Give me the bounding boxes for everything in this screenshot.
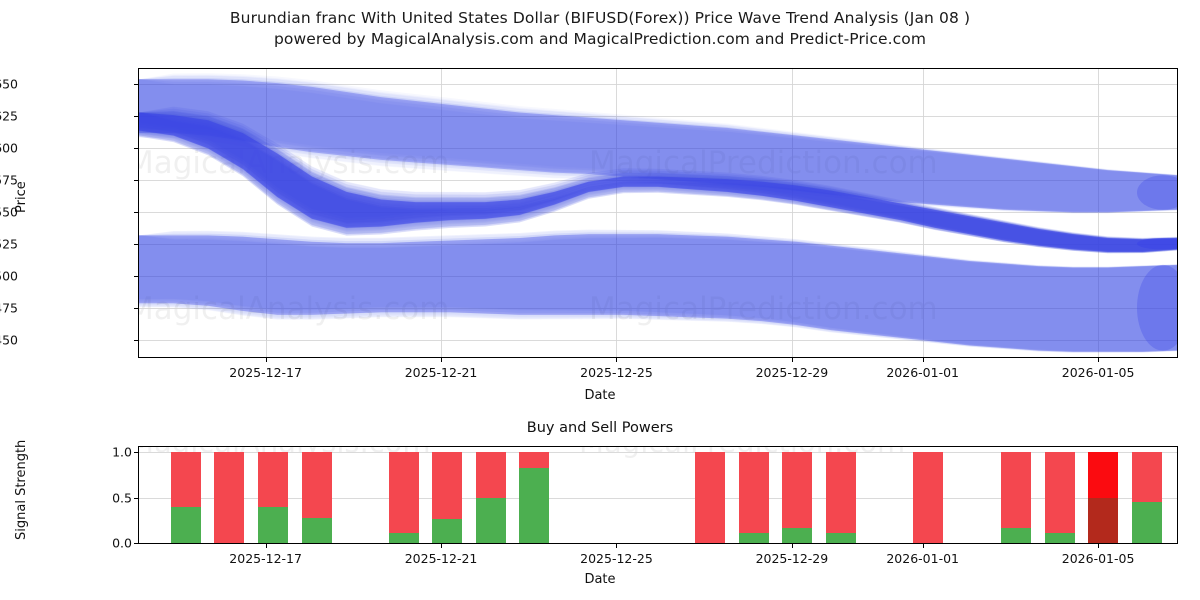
title-line-1: Burundian franc With United States Dolla… <box>0 8 1200 29</box>
power-bar[interactable] <box>1001 452 1031 543</box>
power-bar[interactable] <box>913 452 943 543</box>
sell-power-segment <box>214 452 244 543</box>
price-x-tick-0: 2025-12-17 <box>229 365 302 380</box>
price-x-tick-2: 2025-12-25 <box>580 365 653 380</box>
buy-power-segment <box>1001 528 1031 543</box>
price-x-tickmark-1 <box>441 358 442 362</box>
buy-power-segment <box>171 507 201 543</box>
price-y-tick-7: 0.00033475 <box>0 301 18 316</box>
buy-power-segment <box>519 468 549 543</box>
buy-power-segment <box>432 519 462 543</box>
sell-power-segment <box>171 452 201 506</box>
buy-power-segment <box>302 518 332 543</box>
power-x-tick-4: 2026-01-01 <box>886 551 959 566</box>
power-x-tickmark-1 <box>441 544 442 548</box>
power-bar[interactable] <box>171 452 201 543</box>
power-bar[interactable] <box>1132 452 1162 543</box>
sell-power-segment <box>739 452 769 533</box>
sell-power-segment <box>913 452 943 543</box>
price-x-tick-1: 2025-12-21 <box>405 365 478 380</box>
price-y-tick-2: 0.00033600 <box>0 141 18 156</box>
power-bar[interactable] <box>302 452 332 543</box>
price-x-tickmark-5 <box>1098 358 1099 362</box>
price-y-axis-label: Price <box>14 181 29 213</box>
price-y-tickmark-4 <box>134 212 138 213</box>
buy-sell-powers-chart: MagicalAnalysis.com MagicalPrediction.co… <box>138 446 1178 544</box>
power-bar[interactable] <box>258 452 288 543</box>
price-y-tickmark-8 <box>134 340 138 341</box>
price-y-tickmark-2 <box>134 148 138 149</box>
power-bar[interactable] <box>476 452 506 543</box>
power-y-tickmark-0 <box>134 543 138 544</box>
price-y-tickmark-5 <box>134 244 138 245</box>
sell-power-segment <box>432 452 462 518</box>
sell-power-segment <box>258 452 288 506</box>
power-bar[interactable] <box>432 452 462 543</box>
price-y-tickmark-3 <box>134 180 138 181</box>
price-x-axis-label: Date <box>0 388 1200 403</box>
sell-power-segment <box>695 452 725 543</box>
power-bar[interactable] <box>826 452 856 543</box>
price-y-tick-0: 0.00033650 <box>0 77 18 92</box>
power-bar[interactable] <box>1045 452 1075 543</box>
power-bar[interactable] <box>519 452 549 543</box>
power-x-tickmark-2 <box>616 544 617 548</box>
power-bar[interactable] <box>695 452 725 543</box>
sell-power-segment <box>302 452 332 517</box>
price-y-tick-8: 0.00033450 <box>0 333 18 348</box>
power-bar[interactable] <box>389 452 419 543</box>
price-y-tick-5: 0.00033525 <box>0 237 18 252</box>
buy-power-segment <box>826 533 856 543</box>
buy-power-segment <box>739 533 769 543</box>
power-x-tick-2: 2025-12-25 <box>580 551 653 566</box>
power-x-tickmark-3 <box>792 544 793 548</box>
price-x-tick-5: 2026-01-05 <box>1062 365 1135 380</box>
price-x-tick-4: 2026-01-01 <box>886 365 959 380</box>
power-y-tickmark-1 <box>134 498 138 499</box>
buy-power-segment <box>258 507 288 543</box>
sell-power-segment <box>1001 452 1031 527</box>
sell-power-segment <box>1045 452 1075 533</box>
power-y-axis-label: Signal Strength <box>14 440 29 540</box>
sell-power-segment <box>1132 452 1162 502</box>
price-x-tick-3: 2025-12-29 <box>756 365 829 380</box>
sell-power-segment <box>519 452 549 467</box>
price-x-tickmark-0 <box>266 358 267 362</box>
price-x-tickmark-3 <box>792 358 793 362</box>
buy-power-segment <box>1088 498 1118 543</box>
price-y-tickmark-6 <box>134 276 138 277</box>
power-x-axis-label: Date <box>0 572 1200 587</box>
price-y-tickmark-0 <box>134 84 138 85</box>
sell-power-segment <box>826 452 856 533</box>
price-wave-chart: MagicalAnalysis.com MagicalPrediction.co… <box>138 68 1178 358</box>
sell-power-segment <box>782 452 812 527</box>
power-x-tickmark-0 <box>266 544 267 548</box>
power-x-tickmark-5 <box>1098 544 1099 548</box>
page-title: Burundian franc With United States Dolla… <box>0 8 1200 50</box>
sell-power-segment <box>389 452 419 533</box>
title-line-2: powered by MagicalAnalysis.com and Magic… <box>0 29 1200 50</box>
power-y-tickmark-2 <box>134 452 138 453</box>
sell-power-segment <box>1088 452 1118 497</box>
buy-power-segment <box>389 533 419 543</box>
price-y-tick-1: 0.00033625 <box>0 109 18 124</box>
power-bar[interactable] <box>782 452 812 543</box>
buy-power-segment <box>1132 502 1162 543</box>
power-y-tick-1: 0.5 <box>86 490 132 505</box>
power-chart-title: Buy and Sell Powers <box>0 420 1200 436</box>
price-y-tickmark-1 <box>134 116 138 117</box>
buy-power-segment <box>782 528 812 543</box>
sell-power-segment <box>476 452 506 497</box>
price-y-tickmark-7 <box>134 308 138 309</box>
chart-page: Burundian franc With United States Dolla… <box>0 0 1200 600</box>
power-x-tick-0: 2025-12-17 <box>229 551 302 566</box>
power-bar[interactable] <box>214 452 244 543</box>
power-bar[interactable] <box>1088 452 1118 543</box>
power-x-tick-1: 2025-12-21 <box>405 551 478 566</box>
power-y-tick-2: 1.0 <box>86 445 132 460</box>
price-y-tick-6: 0.00033500 <box>0 269 18 284</box>
power-bar[interactable] <box>739 452 769 543</box>
power-y-tick-0: 0.0 <box>86 536 132 551</box>
price-x-tickmark-4 <box>923 358 924 362</box>
power-x-tickmark-4 <box>923 544 924 548</box>
wave-band-lower-envelope-band <box>139 234 1177 352</box>
buy-power-segment <box>476 498 506 543</box>
power-x-tick-5: 2026-01-05 <box>1062 551 1135 566</box>
price-wave-bands <box>139 69 1177 357</box>
price-x-tickmark-2 <box>616 358 617 362</box>
power-x-tick-3: 2025-12-29 <box>756 551 829 566</box>
buy-power-segment <box>1045 533 1075 543</box>
